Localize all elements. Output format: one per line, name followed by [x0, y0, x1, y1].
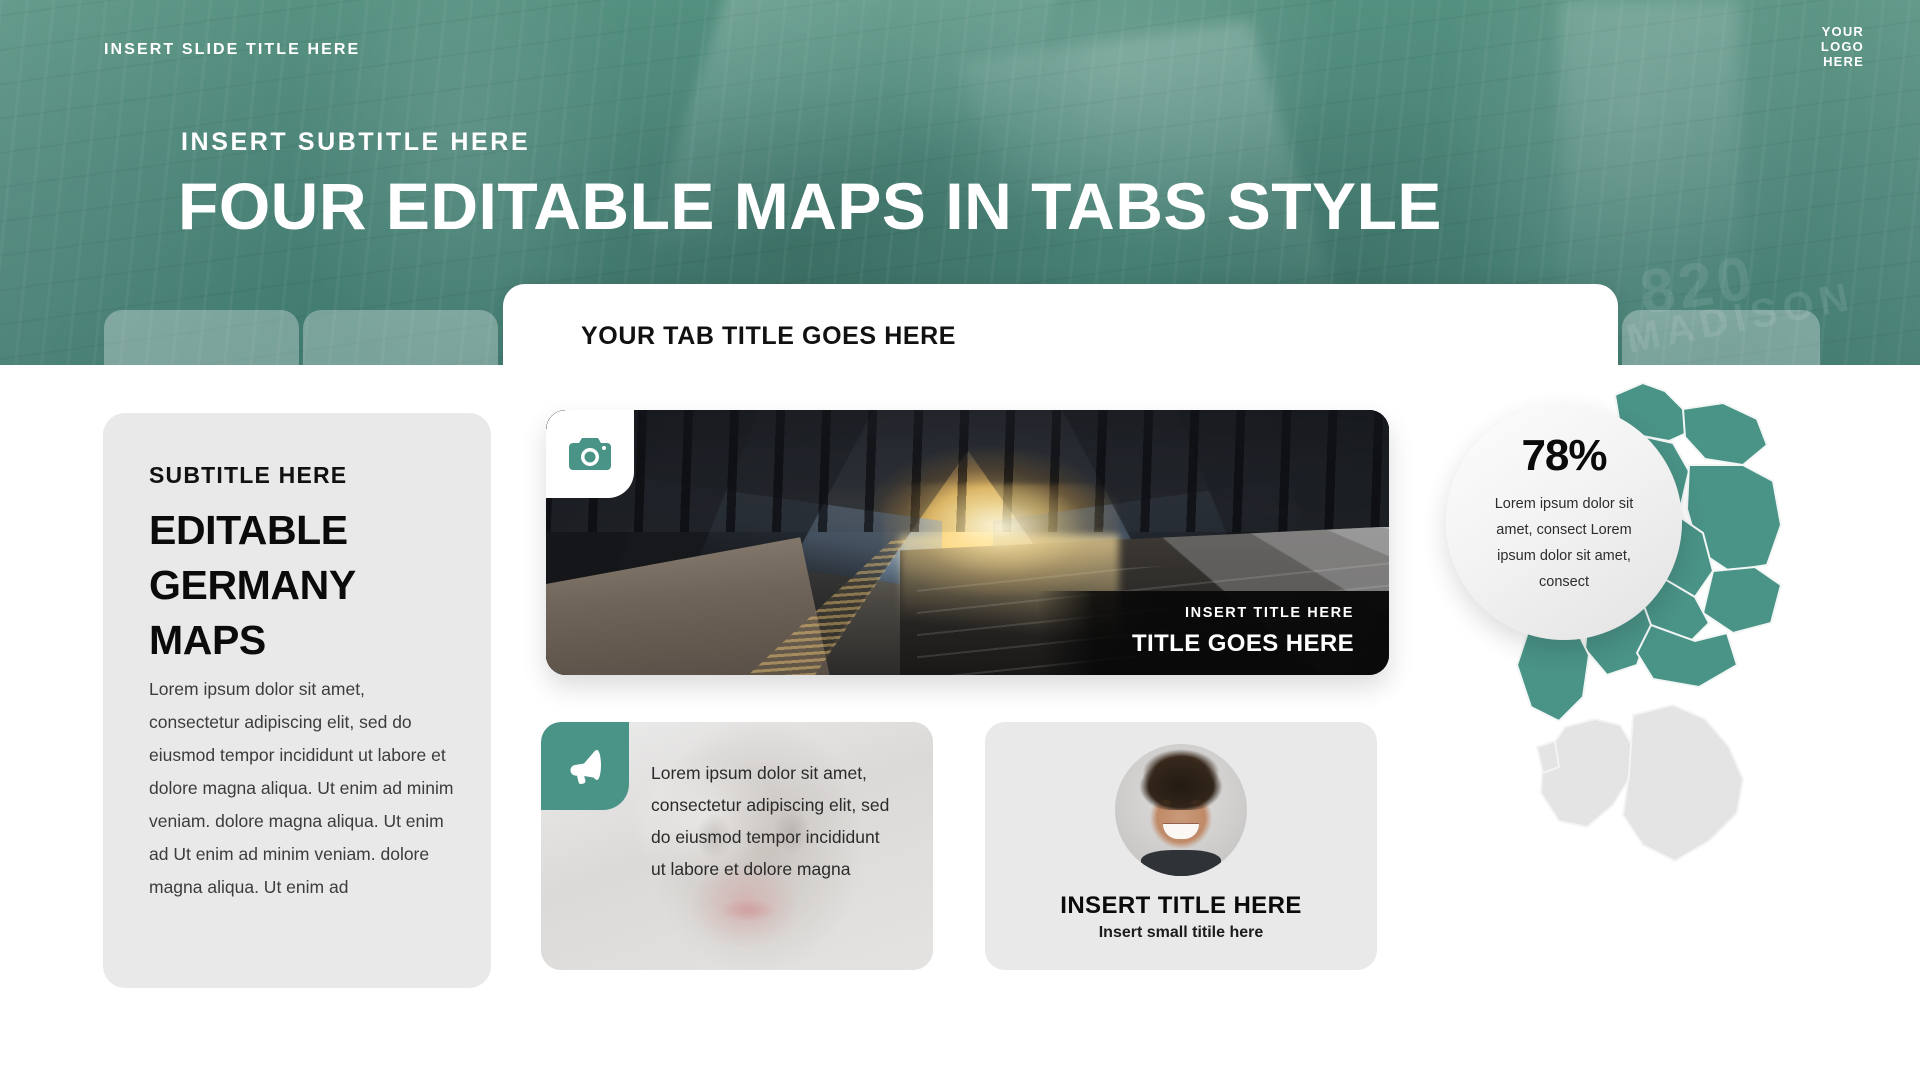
logo-line-3: HERE — [1821, 54, 1864, 69]
avatar-hair — [1131, 748, 1231, 810]
left-panel-body: Lorem ipsum dolor sit amet, consectetur … — [149, 673, 459, 904]
stat-value: 78% — [1521, 431, 1606, 481]
megaphone-text-card[interactable]: Lorem ipsum dolor sit amet, consectetur … — [541, 722, 933, 970]
stat-circle: 78% Lorem ipsum dolor sit amet, consect … — [1446, 404, 1682, 640]
logo-placeholder: YOUR LOGO HERE — [1821, 24, 1864, 69]
slide-subtitle: INSERT SUBTITLE HERE — [181, 128, 530, 157]
presentation-slide: 820 MADISON INSERT SLIDE TITLE HERE YOUR… — [0, 0, 1920, 1080]
slide-eyebrow-title: INSERT SLIDE TITLE HERE — [104, 41, 360, 59]
tab-active[interactable]: YOUR TAB TITLE GOES HERE — [503, 284, 1618, 365]
left-text-panel: SUBTITLE HERE EDITABLE GERMANY MAPS Lore… — [103, 413, 491, 988]
hero-caption-small: INSERT TITLE HERE — [1185, 605, 1354, 621]
page-title: FOUR EDITABLE MAPS IN TABS STYLE — [178, 173, 1442, 239]
tab-inactive-1[interactable] — [104, 310, 299, 365]
tab-inactive-3[interactable] — [1622, 310, 1820, 365]
hero-image-card[interactable]: INSERT TITLE HERE TITLE GOES HERE — [546, 410, 1389, 675]
map-region-south[interactable] — [1537, 705, 1743, 861]
hero-caption-overlay: INSERT TITLE HERE TITLE GOES HERE — [1037, 591, 1389, 675]
camera-badge[interactable] — [546, 410, 634, 498]
slide-header: 820 MADISON INSERT SLIDE TITLE HERE YOUR… — [0, 0, 1920, 365]
avatar-eye-left — [1160, 800, 1171, 806]
left-panel-title: EDITABLE GERMANY MAPS — [149, 503, 469, 668]
hero-caption-title: TITLE GOES HERE — [1132, 630, 1354, 658]
avatar-shirt — [1141, 850, 1221, 876]
tab-inactive-2[interactable] — [303, 310, 498, 365]
megaphone-card-text: Lorem ipsum dolor sit amet, consectetur … — [651, 757, 891, 885]
megaphone-badge[interactable] — [541, 722, 629, 810]
slide-body: SUBTITLE HERE EDITABLE GERMANY MAPS Lore… — [0, 365, 1920, 1080]
logo-line-2: LOGO — [1821, 39, 1864, 54]
stat-description: Lorem ipsum dolor sit amet, consect Lore… — [1476, 491, 1652, 595]
tab-active-label: YOUR TAB TITLE GOES HERE — [581, 322, 956, 351]
person-profile-card[interactable]: INSERT TITLE HERE Insert small titile he… — [985, 722, 1377, 970]
logo-line-1: YOUR — [1821, 24, 1864, 39]
camera-icon — [568, 436, 612, 472]
person-card-subtitle: Insert small titile here — [985, 924, 1377, 942]
person-card-title: INSERT TITLE HERE — [985, 892, 1377, 920]
megaphone-icon — [564, 747, 606, 785]
avatar — [1115, 744, 1247, 876]
avatar-eye-right — [1191, 800, 1202, 806]
left-panel-subtitle: SUBTITLE HERE — [149, 462, 347, 489]
